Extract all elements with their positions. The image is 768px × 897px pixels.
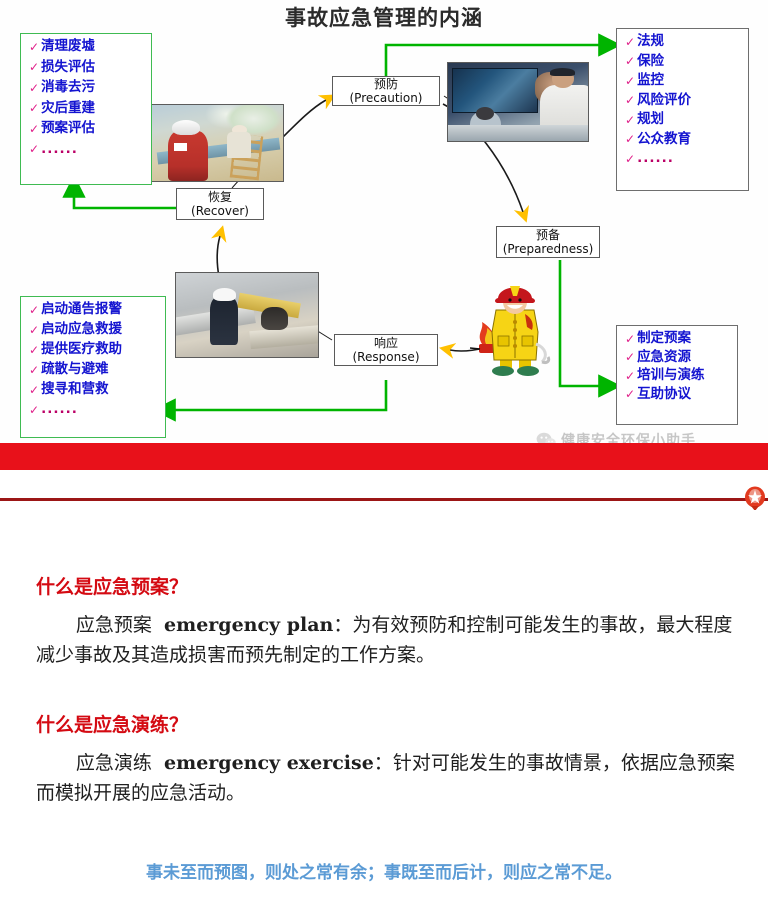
check-icon: ✓ bbox=[625, 36, 635, 48]
document-panel: 什么是应急预案？ 应急预案 emergency plan：为有效预防和控制可能发… bbox=[0, 510, 768, 897]
list-item: ✓监控 bbox=[625, 74, 740, 88]
check-icon: ✓ bbox=[625, 94, 635, 106]
panel-response-outputs: ✓启动通告报警✓启动应急救援✓提供医疗救助✓疏散与避难✓搜寻和营救✓...... bbox=[20, 296, 166, 438]
heading-what-is-emergency-exercise: 什么是应急演练？ bbox=[36, 710, 736, 737]
list-item-label: ...... bbox=[41, 143, 78, 157]
list-item-label: 保险 bbox=[637, 55, 664, 69]
stage-recover[interactable]: 恢复 (Recover) bbox=[176, 188, 264, 220]
stage-precaution-en: (Precaution) bbox=[350, 91, 423, 105]
list-item: ✓损失评估 bbox=[29, 61, 143, 75]
photo-meeting bbox=[447, 62, 589, 142]
stage-preparedness[interactable]: 预备 (Preparedness) bbox=[496, 226, 600, 258]
stage-preparedness-en: (Preparedness) bbox=[503, 242, 594, 256]
list-item: ✓规划 bbox=[625, 113, 740, 127]
list-item: ✓制定预案 bbox=[625, 332, 729, 346]
diagram-panel: 事故应急管理的内涵 bbox=[0, 0, 768, 447]
check-icon: ✓ bbox=[625, 333, 635, 345]
red-divider-band bbox=[0, 443, 768, 470]
stage-preparedness-cn: 预备 bbox=[536, 228, 560, 242]
stage-recover-cn: 恢复 bbox=[208, 190, 232, 204]
photo-rescue bbox=[175, 272, 319, 358]
list-item-label: 规划 bbox=[637, 113, 664, 127]
list-item: ✓保险 bbox=[625, 55, 740, 69]
check-icon: ✓ bbox=[625, 133, 635, 145]
check-icon: ✓ bbox=[625, 114, 635, 126]
check-icon: ✓ bbox=[29, 304, 39, 316]
thin-red-rule bbox=[0, 498, 768, 501]
list-item: ✓消毒去污 bbox=[29, 81, 143, 95]
check-icon: ✓ bbox=[29, 102, 39, 114]
list-item: ✓...... bbox=[625, 152, 740, 166]
panel-recover-outputs: ✓清理废墟✓损失评估✓消毒去污✓灾后重建✓预案评估✓...... bbox=[20, 33, 152, 185]
stage-recover-en: (Recover) bbox=[191, 204, 249, 218]
check-icon: ✓ bbox=[625, 55, 635, 67]
stage-response-en: (Response) bbox=[353, 350, 420, 364]
list-item-label: 制定预案 bbox=[637, 332, 691, 346]
list-item-label: 监控 bbox=[637, 74, 664, 88]
list-item-label: 灾后重建 bbox=[41, 102, 95, 116]
closing-quote: 事未至而预图，则处之常有余；事既至而后计，则应之常不足。 bbox=[0, 858, 768, 883]
list-item: ✓培训与演练 bbox=[625, 369, 729, 383]
colon-1: ： bbox=[333, 614, 352, 636]
check-icon: ✓ bbox=[29, 82, 39, 94]
heading-what-is-emergency-plan: 什么是应急预案？ bbox=[36, 572, 736, 599]
paragraph-emergency-exercise: 应急演练 emergency exercise：针对可能发生的事故情景，依据应急… bbox=[36, 748, 742, 809]
list-item-label: 启动通告报警 bbox=[41, 303, 122, 317]
list-item-label: 疏散与避难 bbox=[41, 363, 109, 377]
list-item: ✓提供医疗救助 bbox=[29, 343, 157, 357]
colon-2: ： bbox=[374, 752, 393, 774]
check-icon: ✓ bbox=[625, 370, 635, 382]
list-item-label: 法规 bbox=[637, 35, 664, 49]
list-item: ✓...... bbox=[29, 403, 157, 417]
flow-response-to-list bbox=[168, 380, 386, 410]
photo-rebuild bbox=[148, 104, 284, 182]
list-item-label: 互助协议 bbox=[637, 388, 691, 402]
paragraph-emergency-plan: 应急预案 emergency plan：为有效预防和控制可能发生的事故，最大程度… bbox=[36, 610, 742, 671]
term-emergency-plan-en: emergency plan bbox=[164, 614, 333, 636]
check-icon: ✓ bbox=[625, 388, 635, 400]
check-icon: ✓ bbox=[29, 324, 39, 336]
list-item-label: 公众教育 bbox=[637, 133, 691, 147]
check-icon: ✓ bbox=[29, 384, 39, 396]
list-item: ✓清理废墟 bbox=[29, 40, 143, 54]
list-item-label: 培训与演练 bbox=[637, 369, 705, 383]
list-item: ✓预案评估 bbox=[29, 122, 143, 136]
illustration-firefighter bbox=[470, 272, 560, 380]
list-item: ✓法规 bbox=[625, 35, 740, 49]
term-emergency-exercise-cn: 应急演练 bbox=[76, 752, 152, 774]
list-item: ✓搜寻和营救 bbox=[29, 383, 157, 397]
check-icon: ✓ bbox=[29, 41, 39, 53]
list-item: ✓...... bbox=[29, 143, 143, 157]
list-item-label: 消毒去污 bbox=[41, 81, 95, 95]
flow-recover-to-list bbox=[74, 190, 182, 208]
list-item-label: 搜寻和营救 bbox=[41, 383, 109, 397]
check-icon: ✓ bbox=[29, 61, 39, 73]
check-icon: ✓ bbox=[625, 75, 635, 87]
panel-precaution-outputs: ✓法规✓保险✓监控✓风险评价✓规划✓公众教育✓...... bbox=[616, 28, 749, 191]
list-item-label: ...... bbox=[637, 152, 674, 166]
list-item: ✓启动应急救援 bbox=[29, 323, 157, 337]
list-item: ✓公众教育 bbox=[625, 133, 740, 147]
stage-precaution[interactable]: 预防 (Precaution) bbox=[332, 76, 440, 106]
term-emergency-plan-cn: 应急预案 bbox=[76, 614, 152, 636]
list-item-label: 预案评估 bbox=[41, 122, 95, 136]
list-item: ✓应急资源 bbox=[625, 351, 729, 365]
check-icon: ✓ bbox=[29, 123, 39, 135]
list-item-label: 提供医疗救助 bbox=[41, 343, 122, 357]
list-item: ✓互助协议 bbox=[625, 388, 729, 402]
stage-precaution-cn: 预防 bbox=[374, 77, 398, 91]
white-gap bbox=[0, 470, 768, 498]
list-item-label: 清理废墟 bbox=[41, 40, 95, 54]
check-icon: ✓ bbox=[29, 404, 39, 416]
stage-response[interactable]: 响应 (Response) bbox=[334, 334, 438, 366]
check-icon: ✓ bbox=[29, 143, 39, 155]
panel-preparedness-outputs: ✓制定预案✓应急资源✓培训与演练✓互助协议 bbox=[616, 325, 738, 425]
term-emergency-exercise-en: emergency exercise bbox=[164, 752, 374, 774]
list-item-label: 损失评估 bbox=[41, 61, 95, 75]
flow-preparedness-to-list bbox=[560, 260, 606, 386]
check-icon: ✓ bbox=[29, 364, 39, 376]
check-icon: ✓ bbox=[625, 351, 635, 363]
list-item: ✓灾后重建 bbox=[29, 102, 143, 116]
list-item-label: ...... bbox=[41, 403, 78, 417]
list-item: ✓疏散与避难 bbox=[29, 363, 157, 377]
list-item-label: 应急资源 bbox=[637, 351, 691, 365]
list-item: ✓启动通告报警 bbox=[29, 303, 157, 317]
arc-recover-to-precaution bbox=[280, 100, 326, 140]
list-item-label: 启动应急救援 bbox=[41, 323, 122, 337]
list-item: ✓风险评价 bbox=[625, 94, 740, 108]
list-item-label: 风险评价 bbox=[637, 94, 691, 108]
check-icon: ✓ bbox=[625, 153, 635, 165]
red-seal-icon bbox=[744, 486, 766, 512]
stage-response-cn: 响应 bbox=[374, 336, 398, 350]
check-icon: ✓ bbox=[29, 344, 39, 356]
